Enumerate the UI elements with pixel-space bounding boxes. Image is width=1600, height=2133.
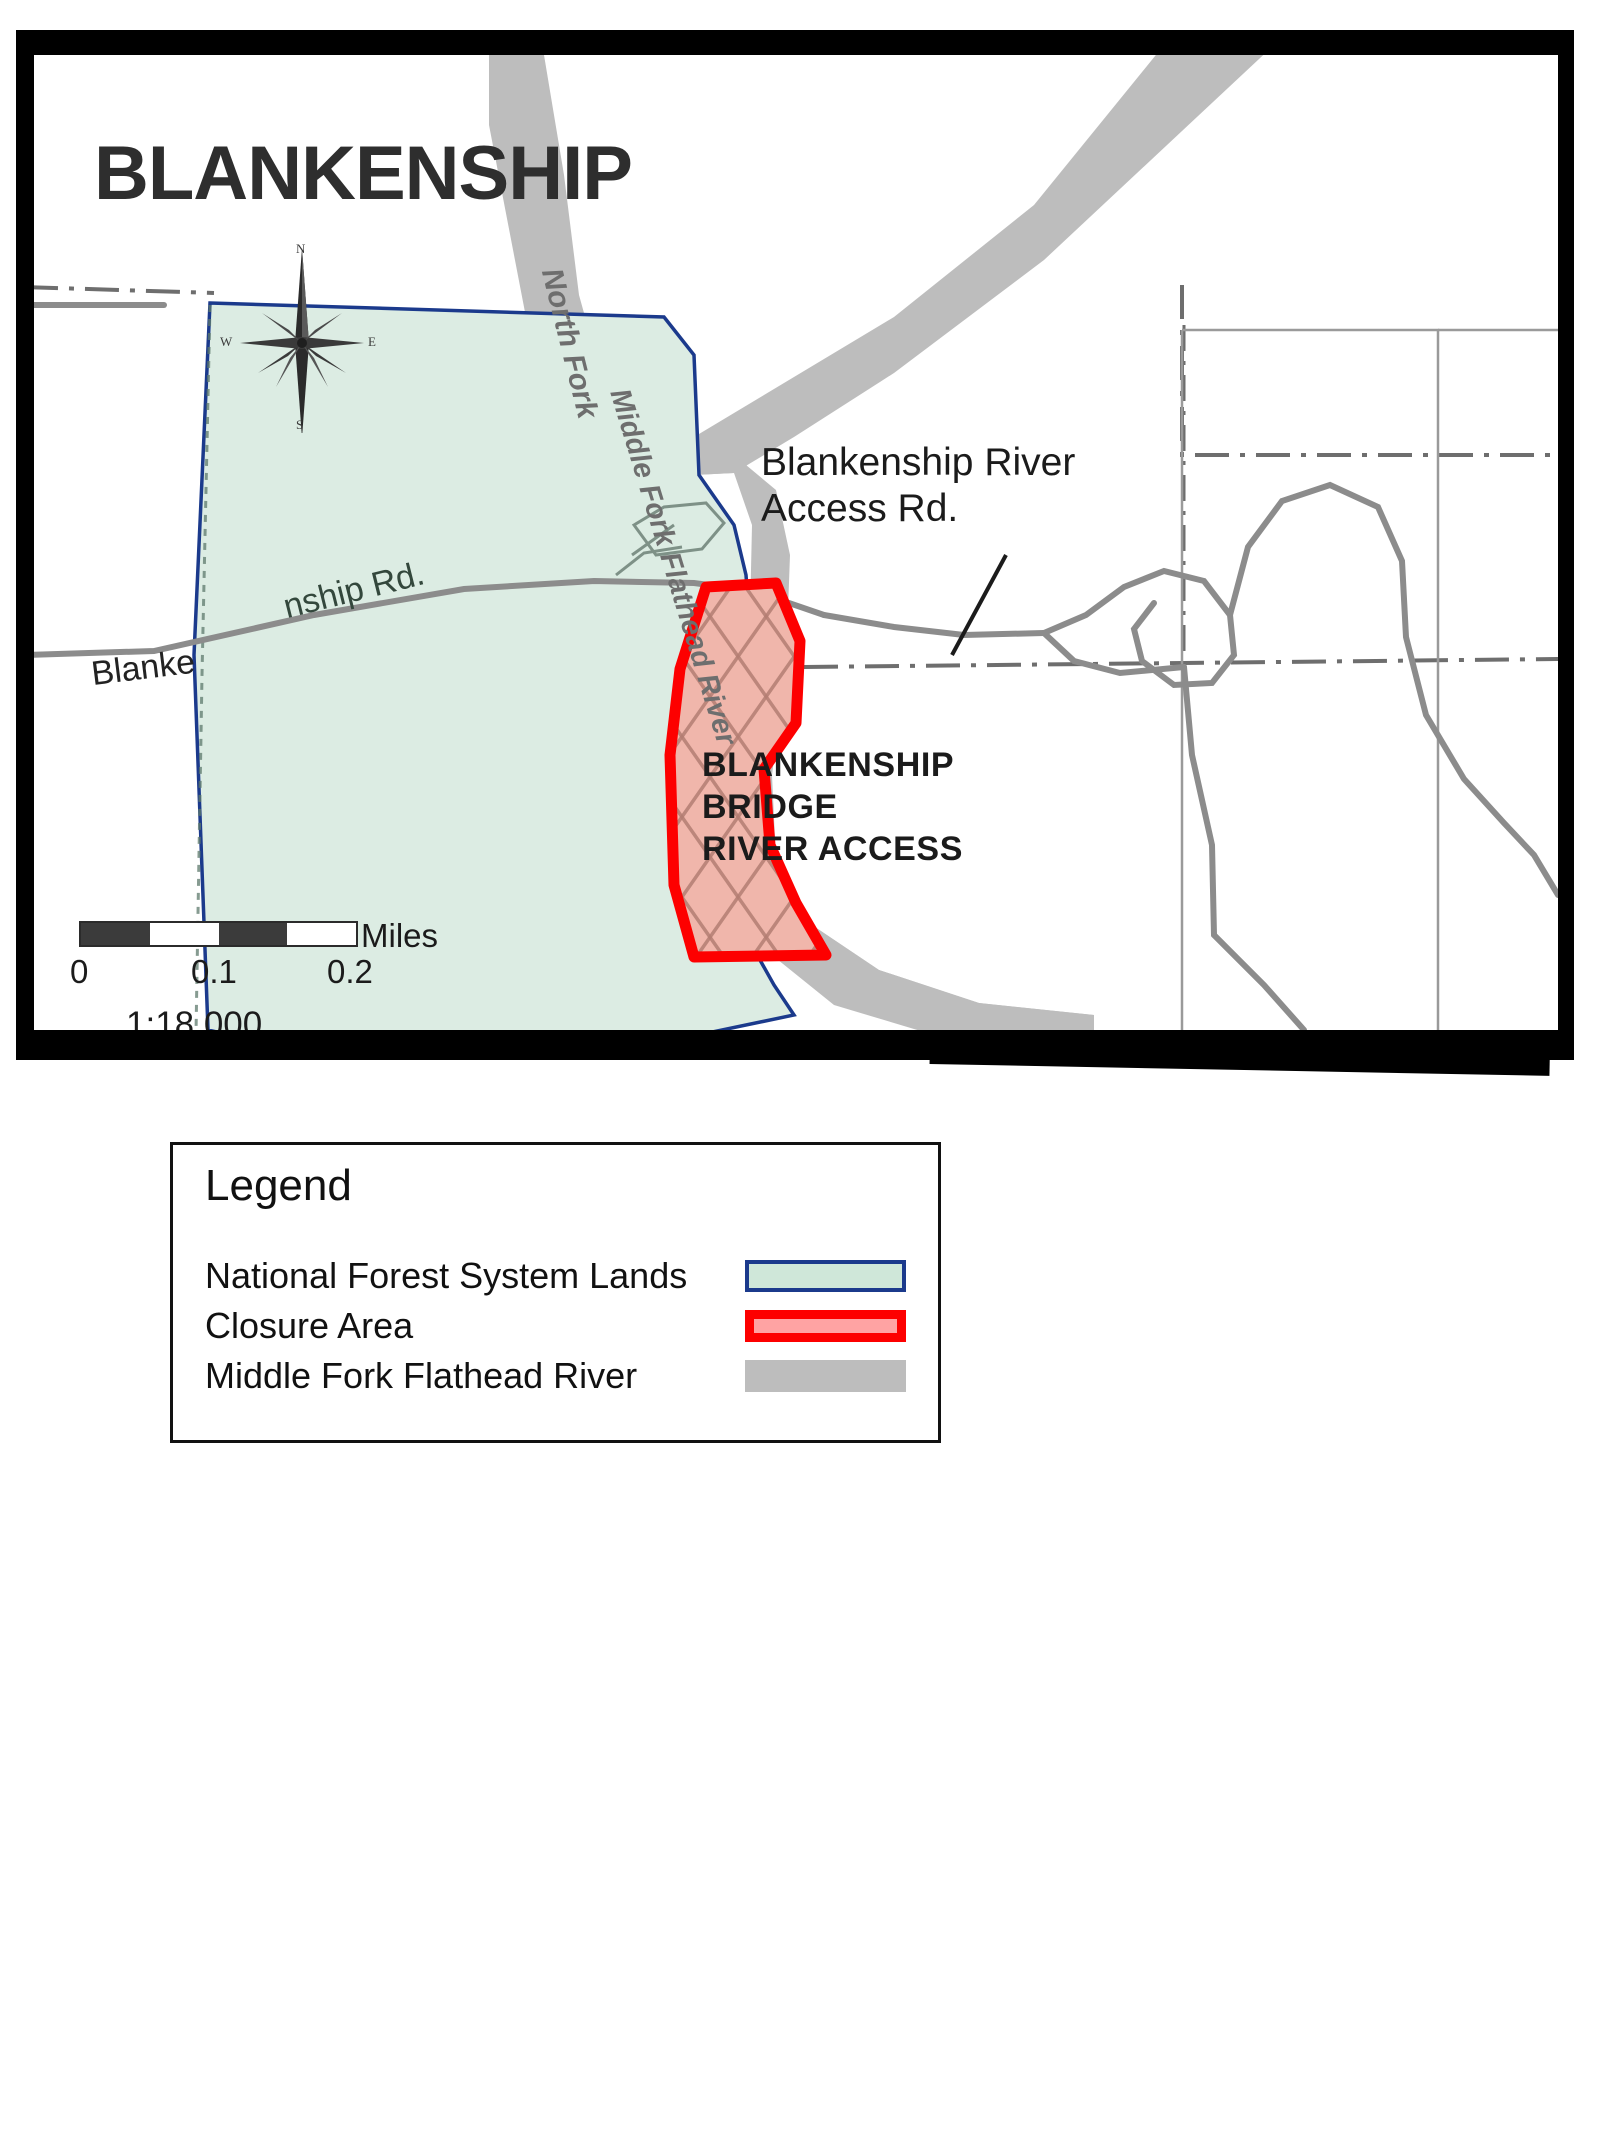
scale-bar-segment bbox=[81, 923, 150, 945]
legend-swatch-river-icon bbox=[745, 1360, 906, 1392]
legend-item-middle-fork-flathead-river[interactable]: Middle Fork Flathead River bbox=[205, 1351, 906, 1401]
legend-title: Legend bbox=[205, 1161, 352, 1211]
compass-east-label: E bbox=[368, 334, 376, 350]
access-rd-line-1: Blankenship River bbox=[761, 440, 1075, 486]
scale-bar-segment bbox=[219, 923, 288, 945]
compass-rose: N S E W bbox=[232, 243, 372, 433]
legend-item-closure-area[interactable]: Closure Area bbox=[205, 1301, 906, 1351]
compass-rose-icon bbox=[232, 243, 372, 433]
label-blankenship-river-access-rd: Blankenship River Access Rd. bbox=[761, 440, 1075, 531]
label-blankenship-bridge-river-access: BLANKENSHIP BRIDGE RIVER ACCESS bbox=[702, 745, 963, 870]
bridge-access-line-3: RIVER ACCESS bbox=[702, 829, 963, 871]
scale-bar bbox=[79, 921, 358, 947]
legend-rows: National Forest System Lands Closure Are… bbox=[205, 1251, 906, 1401]
scale-bar-segment bbox=[150, 923, 219, 945]
parcel-lines bbox=[1182, 330, 1558, 1030]
bridge-access-line-2: BRIDGE bbox=[702, 787, 963, 829]
bridge-access-line-1: BLANKENSHIP bbox=[702, 745, 963, 787]
legend-swatch-closure-icon bbox=[745, 1310, 906, 1342]
legend-item-label: National Forest System Lands bbox=[205, 1258, 745, 1294]
legend-item-label: Middle Fork Flathead River bbox=[205, 1358, 745, 1394]
legend-swatch-forest-icon bbox=[745, 1260, 906, 1292]
legend-box: Legend National Forest System Lands Clos… bbox=[170, 1142, 941, 1443]
map-frame: BLANKENSHIP bbox=[16, 30, 1574, 1060]
scale-tick-1: 0.1 bbox=[191, 953, 237, 991]
scale-ratio-label: 1:18,000 bbox=[126, 1005, 262, 1030]
compass-south-label: S bbox=[296, 417, 303, 433]
scale-bar-segment bbox=[287, 923, 356, 945]
legend-item-label: Closure Area bbox=[205, 1308, 745, 1344]
compass-west-label: W bbox=[220, 334, 232, 350]
legend-item-national-forest-system-lands[interactable]: National Forest System Lands bbox=[205, 1251, 906, 1301]
map-canvas[interactable]: BLANKENSHIP bbox=[34, 55, 1558, 1030]
page-title: BLANKENSHIP bbox=[94, 130, 632, 217]
scale-bar-unit-label: Miles bbox=[361, 917, 438, 955]
label-leader-line bbox=[952, 555, 1006, 655]
compass-north-label: N bbox=[296, 241, 305, 257]
scale-tick-2: 0.2 bbox=[327, 953, 373, 991]
scale-tick-0: 0 bbox=[70, 953, 88, 991]
access-rd-line-2: Access Rd. bbox=[761, 486, 1075, 532]
